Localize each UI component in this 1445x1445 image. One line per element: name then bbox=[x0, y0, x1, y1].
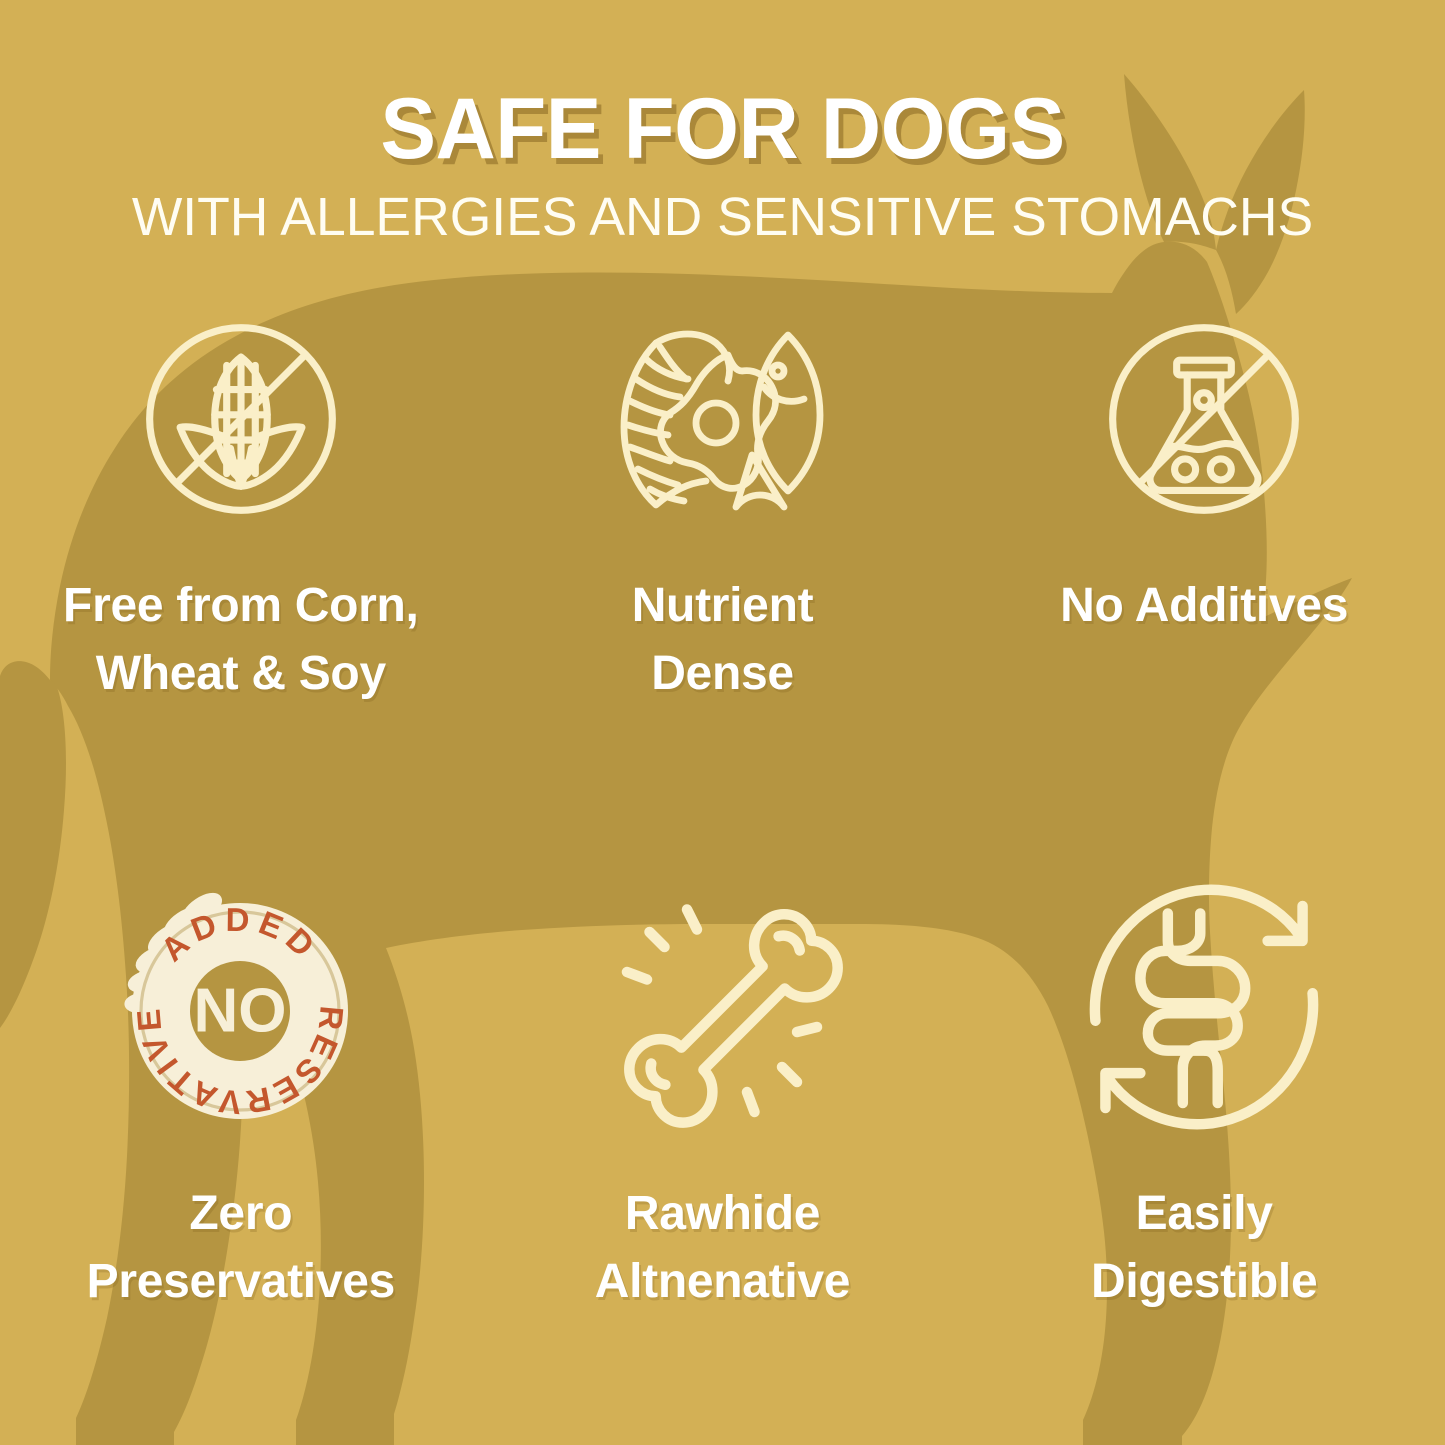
intestine-cycle-icon bbox=[1059, 862, 1349, 1152]
dog-bone-icon bbox=[577, 862, 867, 1152]
feature-label: No Additives bbox=[1060, 572, 1348, 640]
feature-label: Zero Preservatives bbox=[31, 1180, 451, 1316]
page-title: SAFE FOR DOGS bbox=[22, 86, 1424, 172]
no-corn-icon bbox=[116, 294, 366, 544]
feature-grid: Free from Corn, Wheat & Soy bbox=[0, 272, 1445, 1432]
feature-easily-digestible: Easily Digestible bbox=[963, 852, 1445, 1432]
safe-for-dogs-poster: SAFE FOR DOGS WITH ALLERGIES AND SENSITI… bbox=[0, 0, 1445, 1445]
feature-label: Nutrient Dense bbox=[572, 572, 872, 708]
feature-no-corn: Free from Corn, Wheat & Soy bbox=[0, 272, 482, 852]
feature-no-additives: No Additives bbox=[963, 272, 1445, 852]
feature-rawhide-alternative: Rawhide Altnenative bbox=[482, 852, 964, 1432]
badge-center-text: NO bbox=[193, 977, 286, 1046]
feature-nutrient-dense: Nutrient Dense bbox=[482, 272, 964, 852]
no-chemical-flask-icon bbox=[1079, 294, 1329, 544]
page-subtitle: WITH ALLERGIES AND SENSITIVE STOMACHS bbox=[7, 190, 1438, 244]
feature-label: Free from Corn, Wheat & Soy bbox=[6, 572, 476, 708]
no-added-preservatives-badge-icon: NO ADDED PRESERVATIVES bbox=[96, 862, 386, 1152]
feature-label: Rawhide Altnenative bbox=[512, 1180, 932, 1316]
salmon-egg-fish-icon bbox=[597, 294, 847, 544]
feature-label: Easily Digestible bbox=[1039, 1180, 1369, 1316]
header-block: SAFE FOR DOGS WITH ALLERGIES AND SENSITI… bbox=[0, 86, 1445, 244]
feature-zero-preservatives: NO ADDED PRESERVATIVES Zero Preservative… bbox=[0, 852, 482, 1432]
